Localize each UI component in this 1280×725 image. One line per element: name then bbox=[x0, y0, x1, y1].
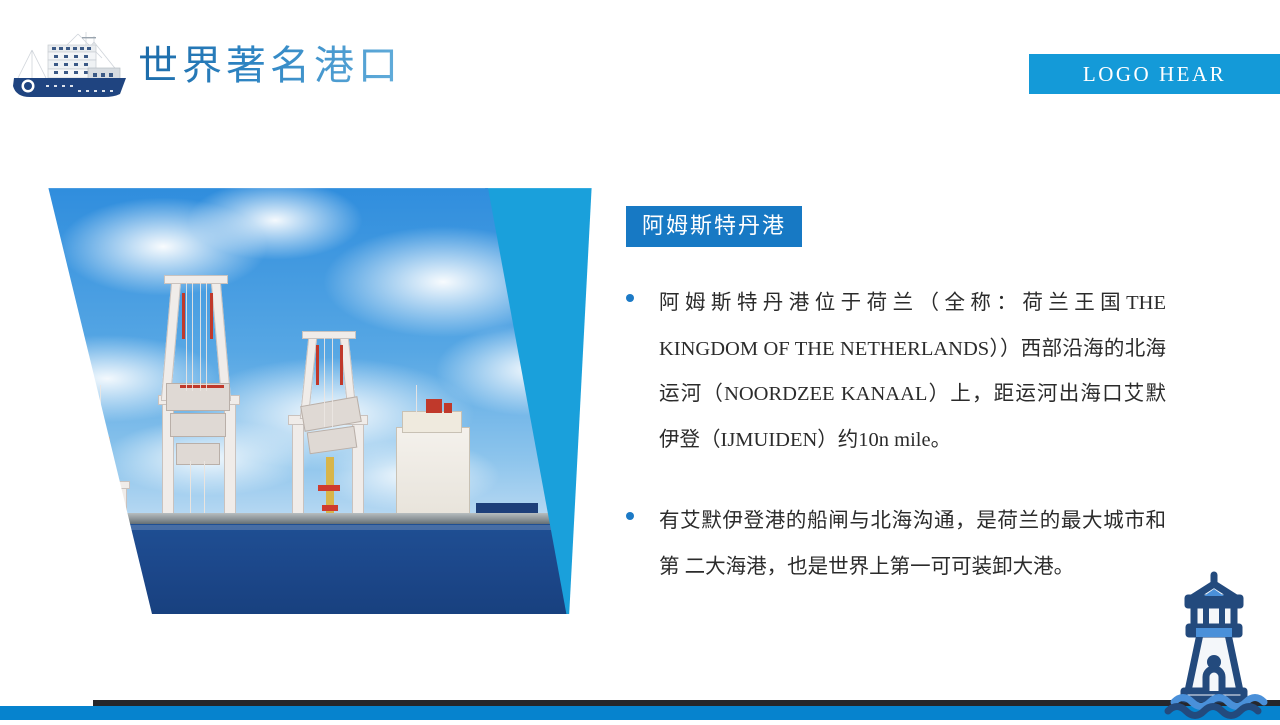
page-title: 世界著名港口 bbox=[138, 44, 402, 88]
bullet-dot-icon bbox=[626, 512, 634, 520]
ship-hull bbox=[40, 524, 600, 625]
bullet-dot-icon bbox=[626, 294, 634, 302]
bullet-paragraph: 有艾默伊登港的船闸与北海沟通，是荷兰的最大城市和第 二大海港，也是世界上第一可可… bbox=[659, 499, 1166, 590]
hull-stripe bbox=[40, 525, 600, 530]
ship-icon bbox=[8, 28, 132, 100]
list-item: 有艾默伊登港的船闸与北海沟通，是荷兰的最大城市和第 二大海港，也是世界上第一可可… bbox=[626, 499, 1166, 590]
slide-header: 世界著名港口 LOGO HEAR bbox=[0, 0, 1280, 130]
bullet-paragraph: 阿姆斯特丹港位于荷兰（全称：荷兰王国THE KINGDOM OF THE NET… bbox=[659, 281, 1166, 463]
lighthouse-icon bbox=[1148, 565, 1280, 720]
slide-root: 世界著名港口 LOGO HEAR bbox=[0, 0, 1280, 720]
logo-placeholder-label: LOGO HEAR bbox=[1083, 62, 1226, 87]
content-panel: 阿姆斯特丹港 阿姆斯特丹港位于荷兰（全称：荷兰王国THE KINGDOM OF … bbox=[626, 206, 1166, 626]
photo-block bbox=[40, 185, 600, 625]
list-item: 阿姆斯特丹港位于荷兰（全称：荷兰王国THE KINGDOM OF THE NET… bbox=[626, 281, 1166, 463]
footer-bar bbox=[0, 706, 1280, 720]
logo-placeholder-box[interactable]: LOGO HEAR bbox=[1029, 54, 1280, 94]
section-title-badge: 阿姆斯特丹港 bbox=[626, 206, 802, 247]
bullet-list: 阿姆斯特丹港位于荷兰（全称：荷兰王国THE KINGDOM OF THE NET… bbox=[626, 281, 1166, 590]
